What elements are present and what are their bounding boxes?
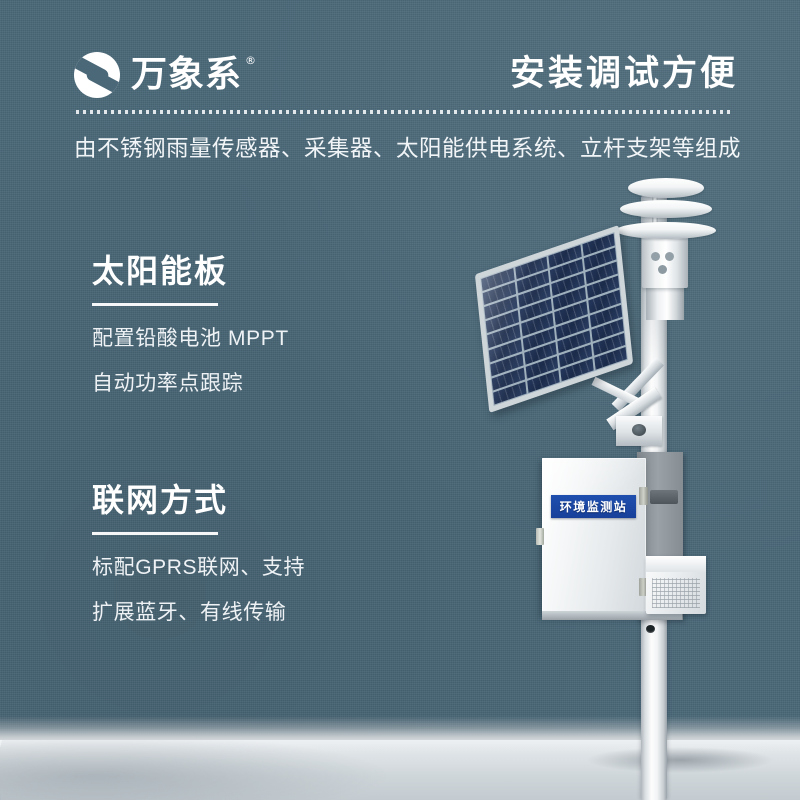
feature-block-network: 联网方式 标配GPRS联网、支持 扩展蓝牙、有线传输 (92, 483, 305, 623)
page-headline: 安装调试方便 (510, 54, 738, 94)
feature-line: 标配GPRS联网、支持 (92, 557, 305, 578)
feature-body: 配置铅酸电池 MPPT 自动功率点跟踪 (92, 328, 289, 394)
feature-line: 配置铅酸电池 MPPT (92, 328, 289, 349)
swirl-circle-logo-icon (74, 52, 120, 98)
page-subtitle: 由不锈钢雨量传感器、采集器、太阳能供电系统、立杆支架等组成 (74, 131, 741, 163)
feature-underline (92, 303, 218, 306)
feature-line: 扩展蓝牙、有线传输 (92, 602, 305, 623)
feature-line: 自动功率点跟踪 (92, 373, 289, 394)
feature-body: 标配GPRS联网、支持 扩展蓝牙、有线传输 (92, 557, 305, 623)
feature-block-solar-panel: 太阳能板 配置铅酸电池 MPPT 自动功率点跟踪 (92, 254, 289, 394)
brand-logo: 万象系® (74, 52, 242, 98)
feature-title: 太阳能板 (92, 254, 289, 289)
brand-logo-text: 万象系® (131, 57, 242, 93)
feature-title: 联网方式 (92, 483, 305, 518)
dotted-divider (76, 110, 732, 114)
registered-trademark-icon: ® (245, 55, 257, 66)
feature-underline (92, 532, 218, 535)
marketing-text-overlay: 万象系® 安装调试方便 由不锈钢雨量传感器、采集器、太阳能供电系统、立杆支架等组… (0, 0, 800, 800)
